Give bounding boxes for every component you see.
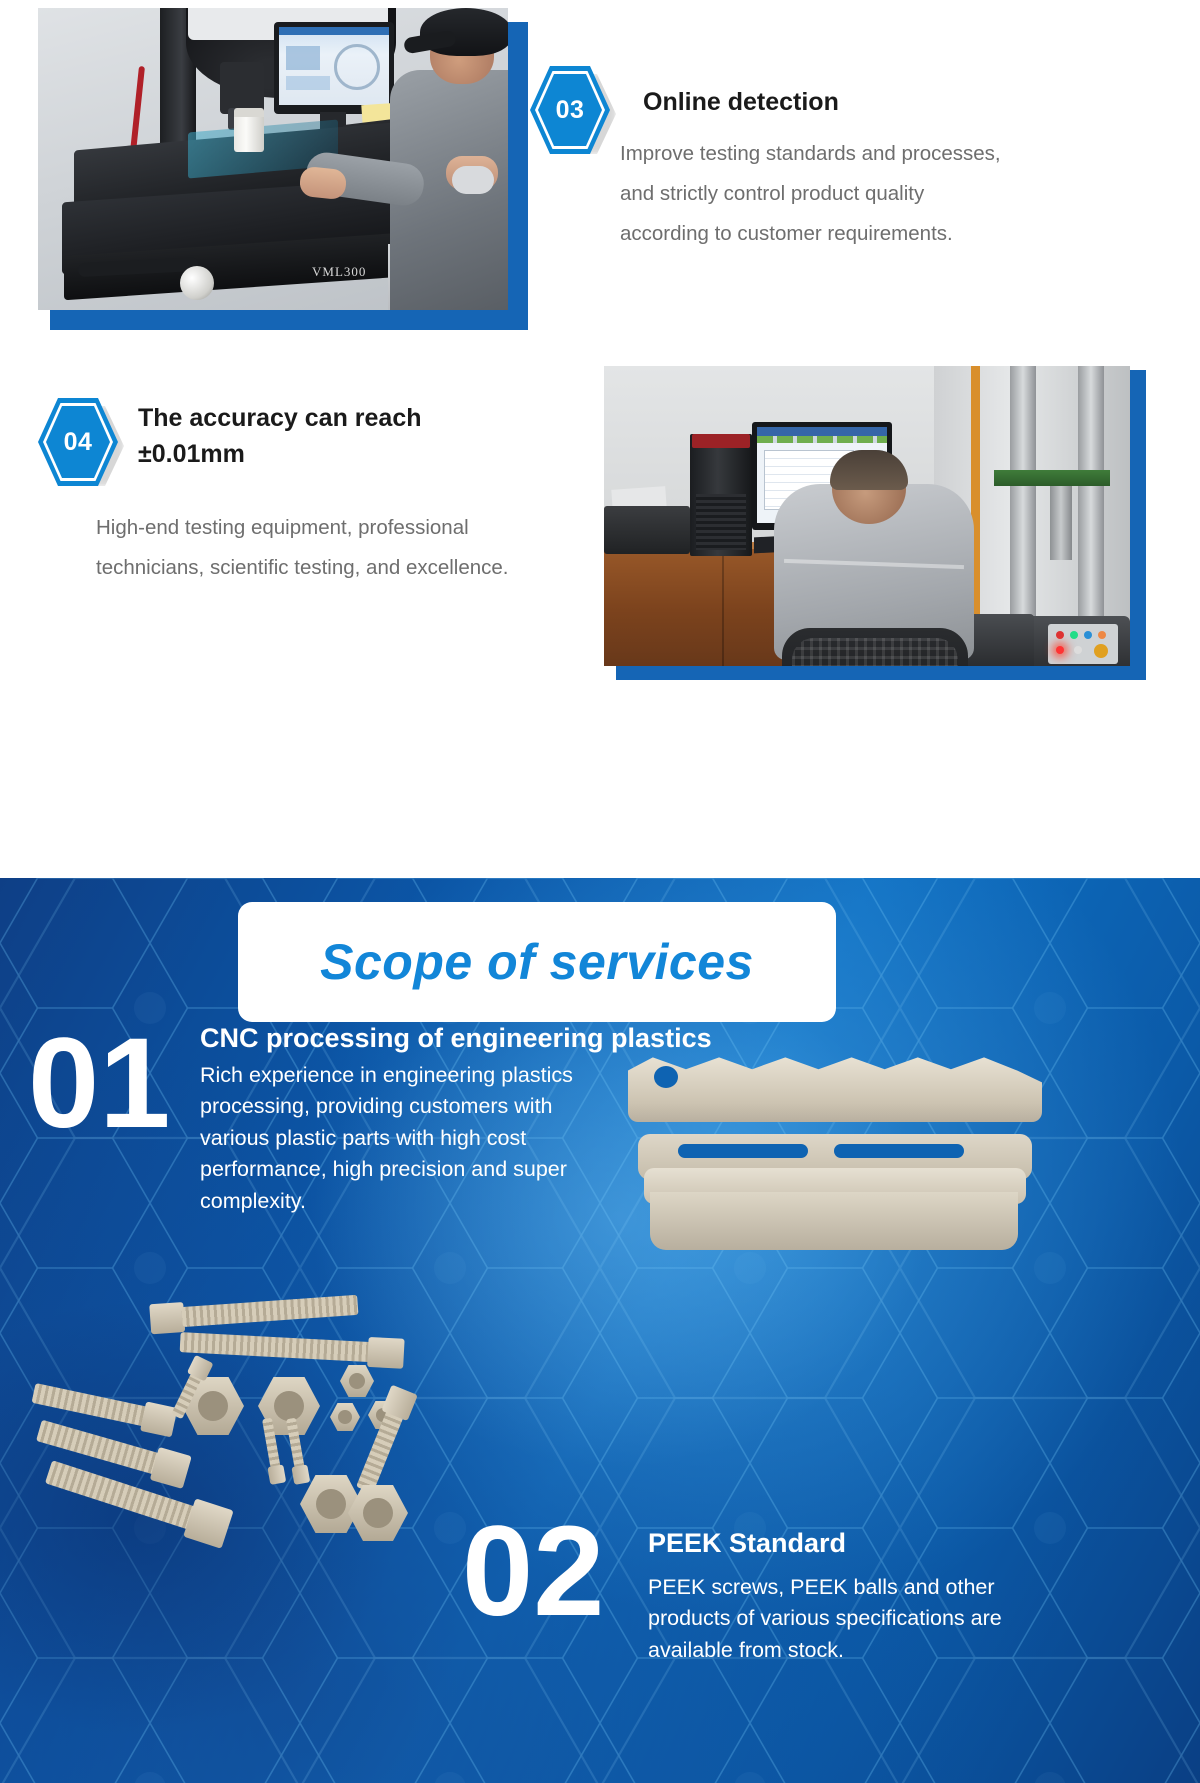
features-section: VML300 03 Online detection Improve testi… <box>0 0 1200 878</box>
photo-tensile-testing-lab <box>604 366 1130 666</box>
badge-number: 04 <box>38 398 118 486</box>
feature-title-04: The accuracy can reach ±0.01mm <box>138 400 488 473</box>
scope-item-number-01: 01 <box>28 1020 170 1148</box>
scope-of-services-section: Scope of services 01 CNC processing of e… <box>0 878 1200 1783</box>
scope-item-title-02: PEEK Standard <box>648 1528 1108 1559</box>
feature-badge-03: 03 <box>530 66 610 154</box>
feature-body-04: High-end testing equipment, professional… <box>96 508 516 588</box>
feature-photo-accuracy <box>604 360 1142 680</box>
marketing-page: VML300 03 Online detection Improve testi… <box>0 0 1200 1783</box>
feature-badge-04: 04 <box>38 398 118 486</box>
feature-title-03: Online detection <box>643 84 1063 120</box>
scope-item-body-01: Rich experience in engineering plastics … <box>200 1060 600 1217</box>
scope-item-number-02: 02 <box>462 1508 604 1636</box>
image-peek-bolts-and-nuts <box>30 1285 460 1545</box>
badge-number: 03 <box>530 66 610 154</box>
image-peek-curved-component <box>620 1048 1050 1263</box>
photo-vml300-measuring-machine: VML300 <box>38 8 508 310</box>
machine-model-label: VML300 <box>312 264 366 280</box>
scope-item-body-02: PEEK screws, PEEK balls and other produc… <box>648 1572 1038 1666</box>
scope-title-text: Scope of services <box>320 933 754 991</box>
scope-title-card: Scope of services <box>238 902 836 1022</box>
feature-body-03: Improve testing standards and processes,… <box>620 134 1010 254</box>
feature-photo-online-detection: VML300 <box>38 8 516 330</box>
